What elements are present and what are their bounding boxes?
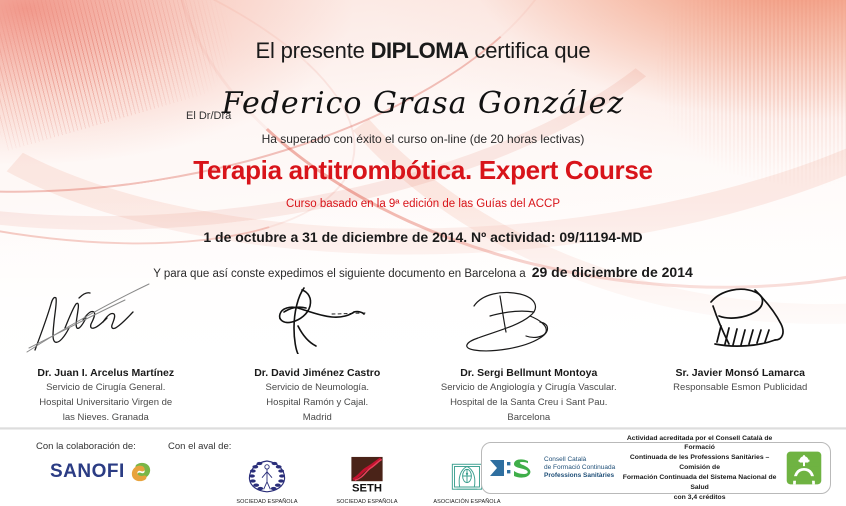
signatory-role-line: Servicio de Cirugía General.: [6, 381, 206, 395]
course-title: Terapia antitrombótica. Expert Course: [0, 155, 846, 186]
handwritten-signature-4: [655, 282, 825, 354]
signature-block-4: Sr. Javier Monsó Lamarca Responsable Esm…: [635, 282, 846, 422]
signatory-role-line: Servicio de Angiología y Cirugía Vascula…: [429, 381, 629, 395]
handwritten-signature-2: [232, 282, 402, 354]
seacv-caption-line: SOCIEDAD ESPAÑOLA: [228, 499, 306, 506]
endorser-seacv: SOCIEDAD ESPAÑOLA DE ANGIOLOGÍA Y CIRUGÍ…: [228, 455, 306, 506]
signatory-name: Dr. Sergi Bellmunt Montoya: [429, 366, 629, 380]
handwritten-signature-1: [21, 282, 191, 354]
accreditation-box: Consell Català de Formació Continuada Pr…: [481, 442, 831, 494]
aec-caption-line: ASOCIACIÓN ESPAÑOLA: [428, 499, 506, 506]
headline: El presente DIPLOMA certifica que: [0, 38, 846, 64]
headline-prefix: El presente: [256, 38, 371, 63]
diploma-certificate: El presente DIPLOMA certifica que El Dr/…: [0, 0, 846, 506]
accreditation-line: Formación Continuada del Sistema Naciona…: [620, 473, 779, 493]
headline-suffix: certifica que: [469, 38, 591, 63]
signatory-role-line: Responsable Esmon Publicidad: [641, 381, 841, 395]
accreditation-line: Actividad acreditada por el Consell Cata…: [620, 434, 779, 454]
consell-catala-logo: Consell Català de Formació Continuada Pr…: [488, 455, 615, 481]
footer-divider: [0, 427, 846, 430]
ccfc-mark-icon: [488, 455, 540, 481]
headline-diploma-word: DIPLOMA: [371, 38, 469, 63]
honoree-name: Federico Grasa González: [0, 86, 846, 121]
seth-emblem-icon: SETH: [328, 455, 406, 497]
signature-caption-4: Sr. Javier Monsó Lamarca Responsable Esm…: [635, 366, 846, 395]
signature-caption-1: Dr. Juan I. Arcelus Martínez Servicio de…: [0, 366, 212, 424]
accreditation-line: Continuada de les Professions Sanitàries…: [620, 453, 779, 473]
signatory-role-line: Hospital de la Santa Creu i Sant Pau.: [429, 396, 629, 410]
certificate-content: El presente DIPLOMA certifica que El Dr/…: [0, 0, 846, 506]
handwritten-signature-3: [444, 282, 614, 354]
course-basis-note: Curso basado en la 9ª edición de las Guí…: [0, 198, 846, 210]
signatory-role-line: Hospital Universitario Virgen de: [6, 396, 206, 410]
collaboration-label: Con la colaboración de:: [36, 441, 136, 452]
sanofi-symbol-icon: [130, 461, 152, 483]
ccfc-wordmark: Consell Català de Formació Continuada Pr…: [544, 456, 615, 480]
signature-block-3: Dr. Sergi Bellmunt Montoya Servicio de A…: [423, 282, 635, 422]
ccfc-line-1: Consell Català: [544, 456, 615, 464]
signatory-name: Sr. Javier Monsó Lamarca: [641, 366, 841, 380]
svg-text:SETH: SETH: [352, 483, 382, 495]
course-period-and-activity-number: 1 de octubre a 31 de diciembre de 2014. …: [0, 229, 846, 245]
endorser-seth: SETH SOCIEDAD ESPAÑOLA DE TROMBOSIS Y HE…: [328, 455, 406, 506]
sanofi-wordmark: SANOFI: [50, 461, 125, 483]
sanofi-logo: SANOFI: [50, 461, 152, 483]
signatory-role-line: Servicio de Neumología.: [218, 381, 418, 395]
signature-block-1: Dr. Juan I. Arcelus Martínez Servicio de…: [0, 282, 212, 422]
completion-subline: Ha superado con éxito el curso on-line (…: [0, 132, 846, 146]
ccfc-line-2: de Formació Continuada: [544, 464, 615, 472]
signature-caption-3: Dr. Sergi Bellmunt Montoya Servicio de A…: [423, 366, 635, 424]
accreditation-statement: Actividad acreditada por el Consell Cata…: [615, 434, 784, 503]
ccfc-line-3: Professions Sanitàries: [544, 472, 615, 480]
issue-date: 29 de diciembre de 2014: [532, 264, 693, 280]
seacv-emblem-icon: [228, 455, 306, 497]
signature-caption-2: Dr. David Jiménez Castro Servicio de Neu…: [212, 366, 424, 424]
endorser-logos: SOCIEDAD ESPAÑOLA DE ANGIOLOGÍA Y CIRUGÍ…: [228, 455, 506, 506]
signatory-role-line: Barcelona: [429, 411, 629, 425]
accreditation-line: con 3,4 créditos: [620, 493, 779, 503]
endorsement-label: Con el aval de:: [168, 441, 231, 452]
issue-statement-prefix: Y para que así conste expedimos el sigui…: [153, 268, 526, 280]
sns-commission-logo-icon: [784, 448, 824, 488]
seth-caption-line: SOCIEDAD ESPAÑOLA: [328, 499, 406, 506]
signatory-role-line: las Nieves. Granada: [6, 411, 206, 425]
signature-block-2: Dr. David Jiménez Castro Servicio de Neu…: [212, 282, 424, 422]
signatory-role-line: Madrid: [218, 411, 418, 425]
signatory-name: Dr. Juan I. Arcelus Martínez: [6, 366, 206, 380]
signature-row: Dr. Juan I. Arcelus Martínez Servicio de…: [0, 282, 846, 422]
issue-statement: Y para que así conste expedimos el sigui…: [0, 264, 846, 280]
signatory-role-line: Hospital Ramón y Cajal.: [218, 396, 418, 410]
signatory-name: Dr. David Jiménez Castro: [218, 366, 418, 380]
